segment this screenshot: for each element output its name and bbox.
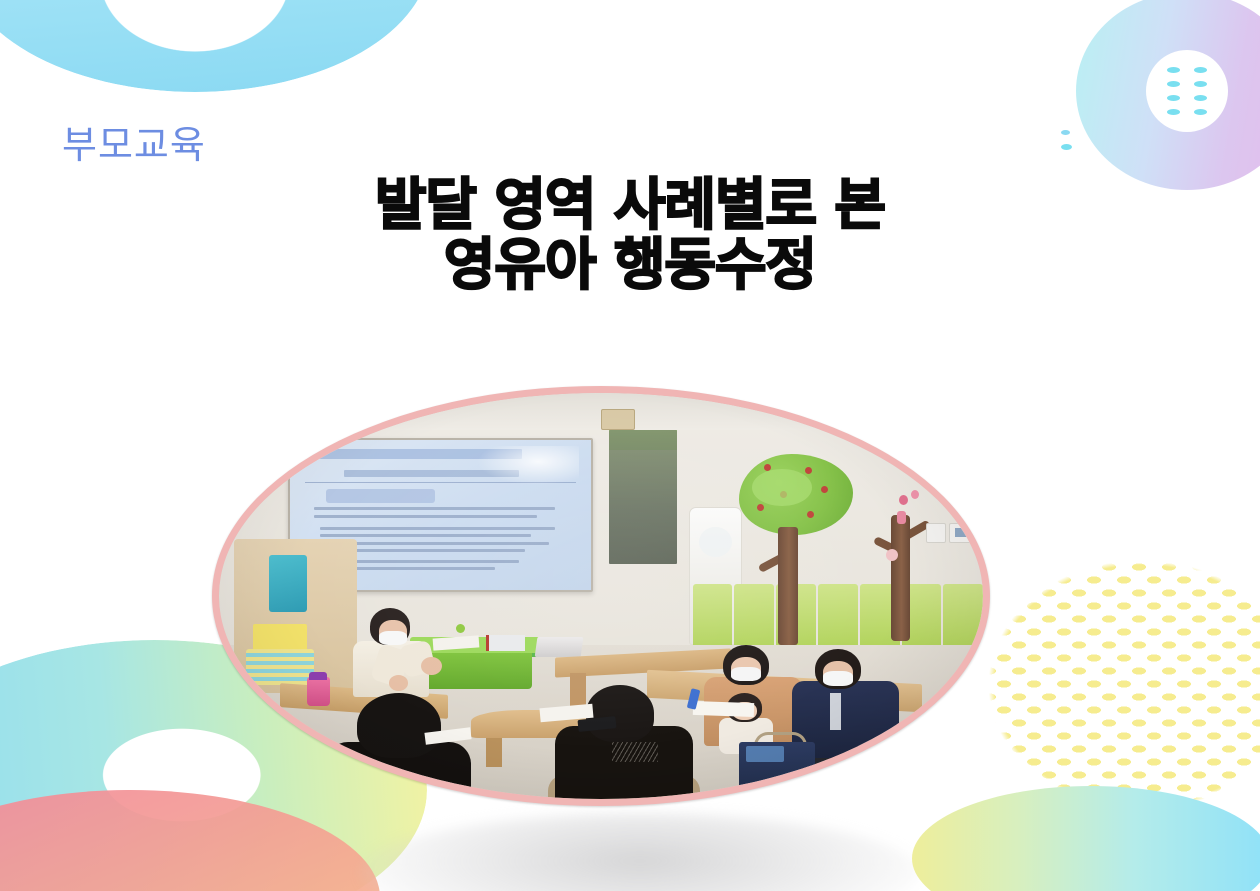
gradient-dot-circle-decoration bbox=[1076, 0, 1260, 190]
eyebrow-label: 부모교육 bbox=[62, 114, 206, 169]
pink-peach-blob-decoration bbox=[0, 790, 380, 891]
yellow-cyan-ellipse-decoration bbox=[912, 786, 1260, 891]
yellow-dot-field-decoration bbox=[982, 560, 1260, 810]
title-line-1: 발달 영역 사례별로 본 bbox=[0, 176, 1260, 236]
slide-canvas: 부모교육 발달 영역 사례별로 본 영유아 행동수정 bbox=[0, 0, 1260, 891]
stray-dot-a bbox=[1061, 130, 1070, 135]
cyan-ring-decoration bbox=[0, 0, 430, 92]
page-title: 발달 영역 사례별로 본 영유아 행동수정 bbox=[0, 176, 1260, 296]
photo-vignette bbox=[219, 393, 983, 799]
circle-core bbox=[1146, 50, 1228, 132]
dot-grid-icon bbox=[1165, 65, 1209, 117]
stray-dot-b bbox=[1061, 144, 1072, 150]
title-line-2: 영유아 행동수정 bbox=[0, 236, 1260, 296]
gray-band-decoration bbox=[360, 813, 920, 891]
classroom-photo bbox=[212, 386, 990, 806]
photo-content bbox=[219, 393, 983, 799]
